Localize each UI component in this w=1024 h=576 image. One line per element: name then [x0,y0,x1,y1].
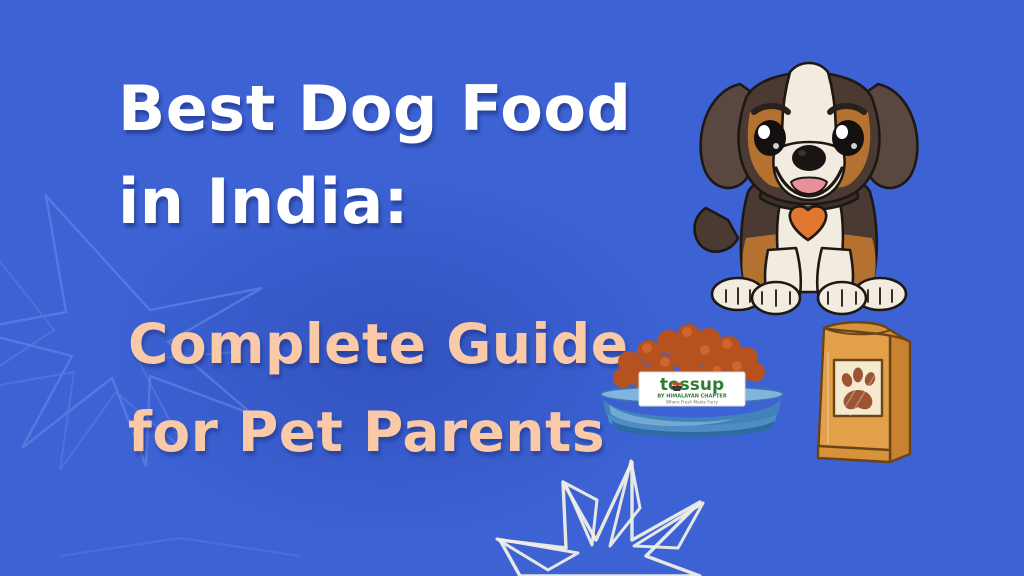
dog-food-bowl-illustration: tossup BY HIMALAYAN CHAPTER Where Fresh … [585,300,800,440]
brand-tagline-secondary: Where Fresh Meets Furry [666,400,719,405]
headline-block: Best Dog Food in India: [118,62,718,248]
bottom-star-icon [500,462,700,576]
brand-wordmark: tossup [660,375,724,395]
bottom-star-rays-icon [497,461,703,570]
headline-line-2: in India: [118,155,718,248]
dog-food-bag-illustration [802,312,920,470]
puppy-illustration [688,42,930,330]
headline-line-1: Best Dog Food [118,62,718,155]
promo-banner: Best Dog Food in India: Complete Guide f… [0,0,1024,576]
left-bottom-line-icon [60,538,300,556]
brand-logo-label: tossup BY HIMALAYAN CHAPTER Where Fresh … [639,372,745,406]
